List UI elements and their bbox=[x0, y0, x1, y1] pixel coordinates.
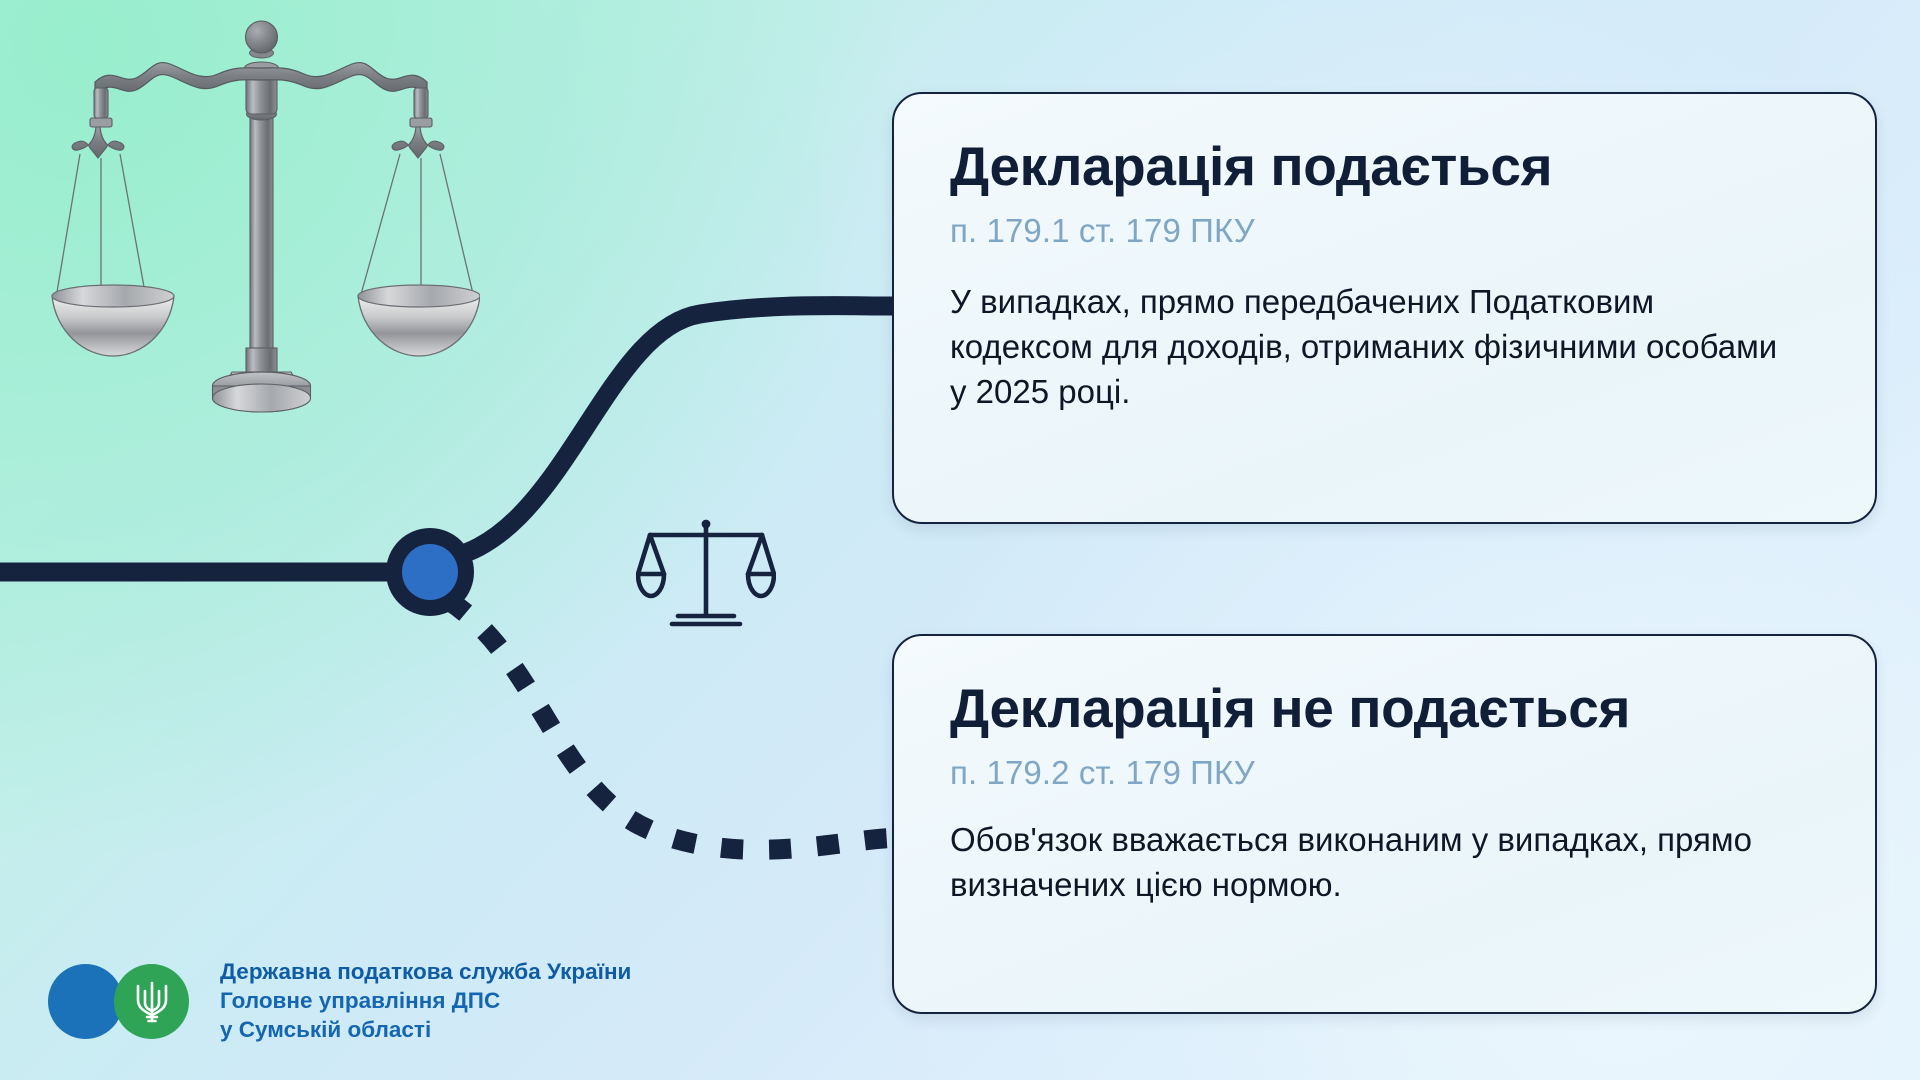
footer-organization: Державна податкова служба України bbox=[220, 958, 631, 987]
logo-green-circle bbox=[114, 964, 189, 1039]
infographic-canvas: Декларація подається п. 179.1 ст. 179 ПК… bbox=[0, 0, 1920, 1080]
scales-of-justice-illustration bbox=[50, 8, 480, 428]
logo-circles bbox=[48, 964, 198, 1039]
card-body: Обов'язок вважається виконаним у випадка… bbox=[950, 818, 1780, 908]
card-title: Декларація не подається bbox=[950, 680, 1819, 738]
card-subtitle: п. 179.1 ст. 179 ПКУ bbox=[950, 212, 1819, 250]
junction-node-core bbox=[402, 544, 458, 600]
ukraine-trident-emblem bbox=[132, 977, 172, 1025]
footer-department-line1: Головне управління ДПС bbox=[220, 987, 631, 1016]
card-title: Декларація подається bbox=[950, 138, 1819, 196]
junction-node-ring bbox=[386, 528, 474, 616]
logo-blue-circle bbox=[48, 964, 123, 1039]
card-declaration-filed[interactable]: Декларація подається п. 179.1 ст. 179 ПК… bbox=[892, 92, 1877, 524]
footer-text: Державна податкова служба України Головн… bbox=[220, 958, 631, 1044]
card-subtitle: п. 179.2 ст. 179 ПКУ bbox=[950, 754, 1819, 792]
card-declaration-not-filed[interactable]: Декларація не подається п. 179.2 ст. 179… bbox=[892, 634, 1877, 1014]
balance-scale-icon bbox=[636, 510, 776, 638]
footer-department-line2: у Сумській області bbox=[220, 1016, 631, 1045]
footer-logo: Державна податкова служба України Головн… bbox=[48, 958, 631, 1044]
card-body: У випадках, прямо передбачених Податкови… bbox=[950, 280, 1780, 415]
